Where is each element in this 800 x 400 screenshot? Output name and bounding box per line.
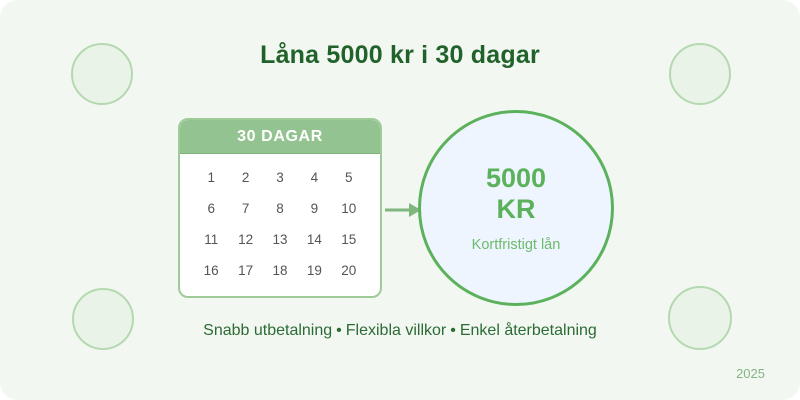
promo-card: Låna 5000 kr i 30 dagar 30 DAGAR 1 2 3 4… (0, 0, 800, 400)
calendar-header-label: 30 DAGAR (180, 120, 380, 154)
amount-currency: KR (497, 194, 536, 225)
calendar-day: 20 (332, 255, 366, 286)
feature-separator: • (332, 322, 346, 339)
feature-item: Enkel återbetalning (460, 322, 597, 339)
calendar-day: 9 (297, 193, 331, 224)
calendar-day: 16 (194, 255, 228, 286)
amount-circle: 5000 KR Kortfristigt lån (418, 110, 614, 306)
feature-item: Snabb utbetalning (203, 322, 332, 339)
calendar-day: 4 (297, 162, 331, 193)
calendar-day: 5 (332, 162, 366, 193)
calendar-day: 10 (332, 193, 366, 224)
decorative-circle-bottom-right (668, 286, 732, 350)
calendar-day: 14 (297, 224, 331, 255)
calendar-day: 3 (263, 162, 297, 193)
year-label: 2025 (736, 366, 765, 381)
calendar-day: 15 (332, 224, 366, 255)
page-title: Låna 5000 kr i 30 dagar (0, 41, 800, 70)
calendar-day: 19 (297, 255, 331, 286)
calendar-card: 30 DAGAR 1 2 3 4 5 6 7 8 9 10 11 12 13 1… (178, 118, 382, 298)
calendar-day: 17 (228, 255, 262, 286)
calendar-day: 12 (228, 224, 262, 255)
calendar-day: 1 (194, 162, 228, 193)
feature-separator: • (446, 322, 460, 339)
amount-value: 5000 (486, 163, 546, 194)
calendar-day: 8 (263, 193, 297, 224)
calendar-day-grid: 1 2 3 4 5 6 7 8 9 10 11 12 13 14 15 16 1… (180, 154, 380, 286)
calendar-day: 13 (263, 224, 297, 255)
calendar-day: 18 (263, 255, 297, 286)
calendar-day: 2 (228, 162, 262, 193)
arrow-right-icon (385, 201, 421, 219)
calendar-day: 11 (194, 224, 228, 255)
amount-caption: Kortfristigt lån (472, 237, 561, 253)
calendar-day: 6 (194, 193, 228, 224)
feature-item: Flexibla villkor (346, 322, 446, 339)
feature-list: Snabb utbetalning•Flexibla villkor•Enkel… (0, 322, 800, 340)
calendar-day: 7 (228, 193, 262, 224)
decorative-circle-bottom-left (72, 288, 134, 350)
